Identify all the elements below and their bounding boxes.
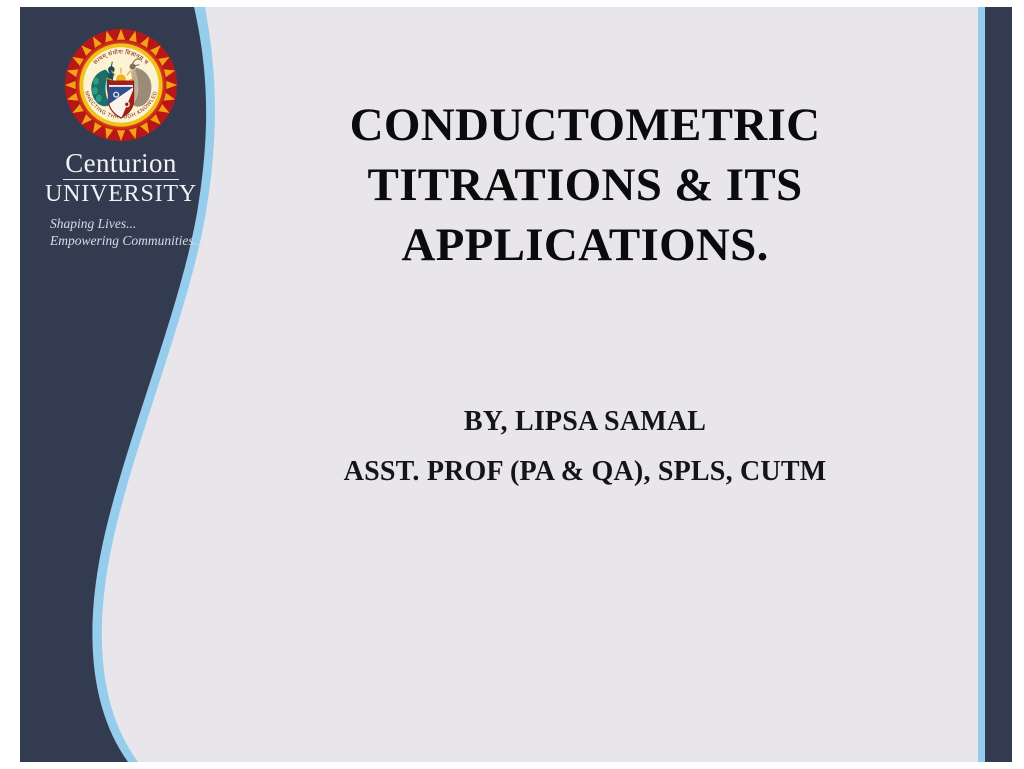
right-navy-band — [985, 7, 1012, 762]
logo-tagline-1: Shaping Lives... — [36, 215, 206, 232]
logo-name-centurion: Centurion — [63, 149, 179, 180]
slide-canvas: सत्यम् संयोगः विज्ञानम् च CONNECTING THR… — [20, 7, 1012, 762]
logo-name-university: UNIVERSITY — [36, 181, 206, 208]
presentation-slide: सत्यम् संयोगः विज्ञानम् च CONNECTING THR… — [0, 0, 1024, 769]
title-line-2: TITRATIONS & ITS — [225, 155, 945, 215]
centurion-university-crest-icon: सत्यम् संयोगः विज्ञानम् च CONNECTING THR… — [63, 27, 179, 143]
slide-subtitle: BY, LIPSA SAMAL ASST. PROF (PA & QA), SP… — [225, 397, 945, 497]
logo-tagline-2: Empowering Communities... — [36, 232, 206, 249]
slide-title: CONDUCTOMETRIC TITRATIONS & ITS APPLICAT… — [225, 95, 945, 275]
subtitle-affiliation: ASST. PROF (PA & QA), SPLS, CUTM — [225, 447, 945, 497]
title-line-3: APPLICATIONS. — [225, 215, 945, 275]
right-blue-stripe — [978, 7, 985, 762]
title-line-1: CONDUCTOMETRIC — [225, 95, 945, 155]
university-logo-block: सत्यम् संयोगः विज्ञानम् च CONNECTING THR… — [36, 27, 206, 249]
subtitle-author: BY, LIPSA SAMAL — [225, 397, 945, 447]
